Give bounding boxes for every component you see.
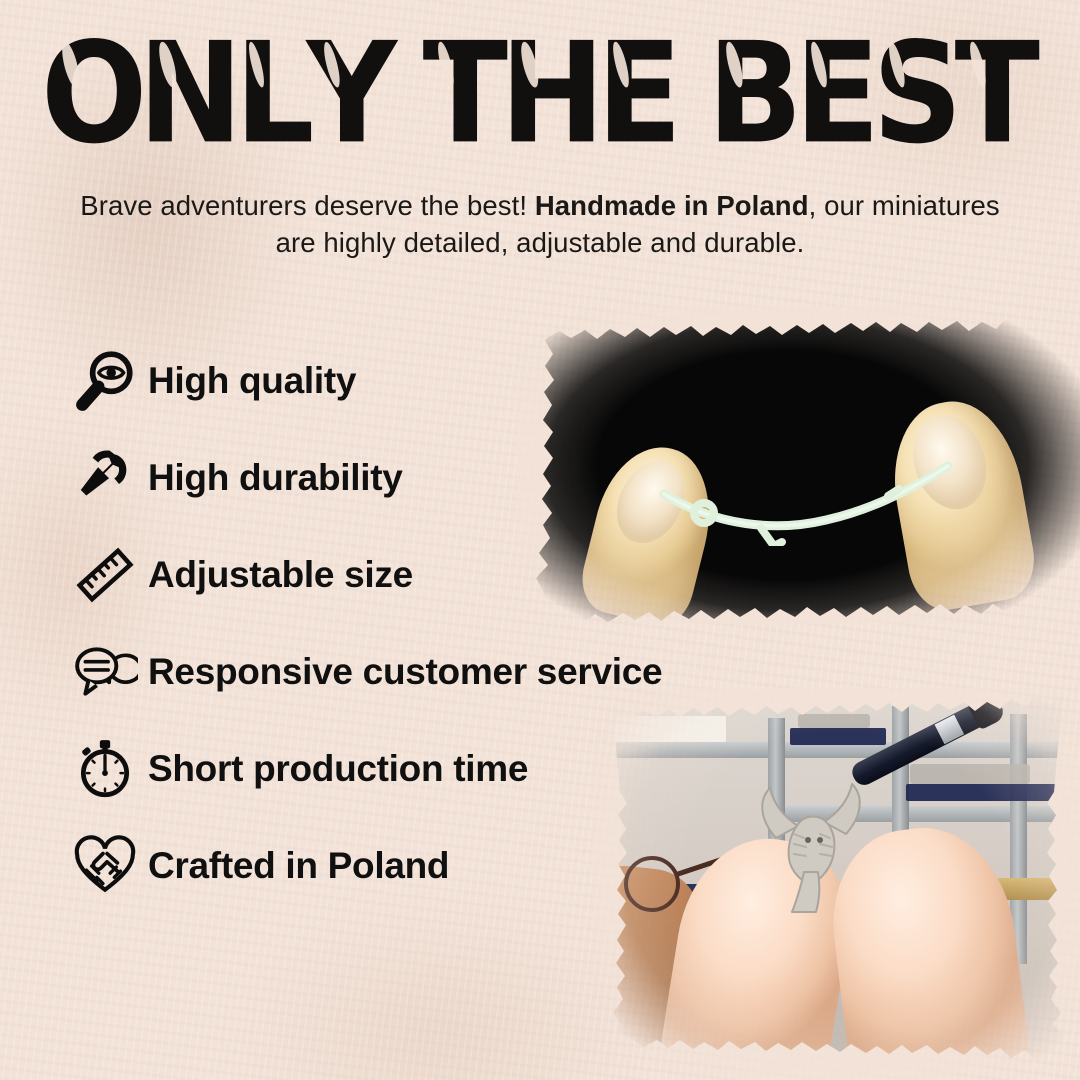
feature-row-high-durability: High durability: [62, 429, 782, 526]
title-letter: O: [41, 23, 146, 162]
feature-label: High quality: [148, 360, 356, 402]
page-title: ONLYTHEBEST: [0, 34, 1080, 152]
feature-label: Crafted in Poland: [148, 845, 449, 887]
speech-bubbles-icon: [62, 633, 148, 711]
feature-label: Short production time: [148, 748, 528, 790]
shelf-label: [606, 716, 726, 742]
feature-label: High durability: [148, 457, 403, 499]
ruler-icon: [62, 536, 148, 614]
title-letter: E: [795, 23, 879, 162]
title-letter: L: [235, 23, 314, 162]
miniature-tray: [906, 784, 1066, 801]
shelf-clutter: [910, 764, 1030, 784]
stopwatch-icon: [62, 730, 148, 808]
title-letter: T: [954, 23, 1038, 162]
feature-label: Adjustable size: [148, 554, 413, 596]
title-letter: B: [708, 23, 802, 162]
shelf-clutter: [798, 714, 870, 728]
title-letter: T: [423, 23, 507, 162]
subtitle: Brave adventurers deserve the best! Hand…: [60, 188, 1020, 261]
title-letter: E: [596, 23, 680, 162]
subtitle-lead: Brave adventurers deserve the best!: [80, 190, 535, 221]
title-letter: H: [500, 23, 604, 162]
magnifier-eye-icon: [62, 342, 148, 420]
workshop-painting-photo: [592, 688, 1080, 1080]
title-letter: S: [872, 23, 961, 162]
title-letter: Y: [306, 23, 396, 162]
feature-row-adjustable-size: Adjustable size: [62, 526, 782, 623]
promo-infographic: ONLYTHEBEST Brave adventurers deserve th…: [0, 0, 1080, 1080]
hammer-icon: [62, 439, 148, 517]
subtitle-emphasis: Handmade in Poland: [535, 190, 809, 221]
feature-row-high-quality: High quality: [62, 332, 782, 429]
heart-handshake-icon: [62, 827, 148, 905]
miniature-tray: [790, 728, 886, 745]
feature-label: Responsive customer service: [148, 651, 662, 693]
title-letter: N: [138, 23, 242, 162]
